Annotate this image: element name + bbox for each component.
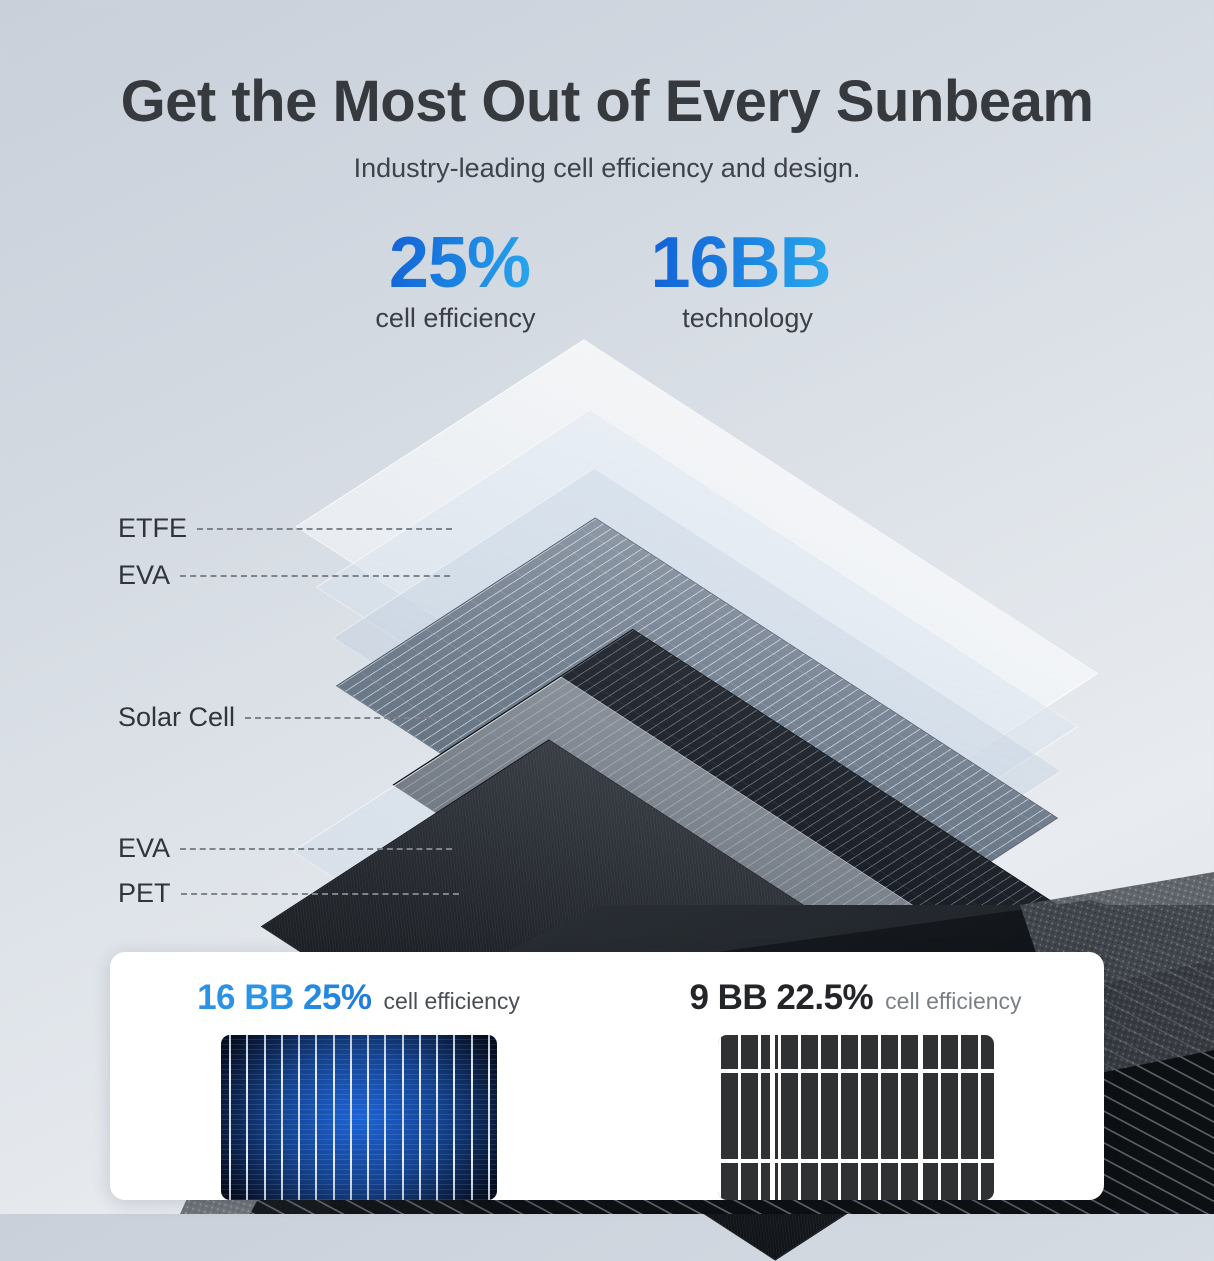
cell-seam — [770, 1035, 775, 1200]
cell-busbar — [315, 1035, 317, 1200]
cell-comparison-card: 16 BB 25% cell efficiency 9 BB 22.5% cel… — [110, 952, 1104, 1200]
cell-busbar — [436, 1035, 438, 1200]
cell-busbar — [453, 1035, 455, 1200]
cell-busbar-horizontal — [718, 1159, 994, 1163]
leader-line — [180, 575, 450, 577]
leader-line — [197, 528, 452, 530]
cell-busbar — [471, 1035, 473, 1200]
cell-busbar — [419, 1035, 421, 1200]
layer-label-text: EVA — [118, 833, 170, 864]
cell-busbar — [229, 1035, 231, 1200]
layer-label-eva-top: EVA — [118, 560, 450, 591]
comparison-heading: 16 BB 25% cell efficiency — [197, 978, 520, 1018]
leader-line — [181, 893, 459, 895]
cell-busbar — [264, 1035, 266, 1200]
cell-busbar — [367, 1035, 369, 1200]
leader-line — [245, 717, 430, 719]
cell-busbar — [402, 1035, 404, 1200]
comparison-headline: 16 BB 25% — [197, 978, 371, 1018]
cell-grid-texture — [718, 1035, 994, 1200]
layer-label-text: ETFE — [118, 513, 187, 544]
solar-cell-swatch-9bb — [718, 1035, 994, 1200]
cell-seam — [918, 1035, 923, 1200]
cell-busbar — [384, 1035, 386, 1200]
cell-busbar — [281, 1035, 283, 1200]
cell-busbar — [246, 1035, 248, 1200]
comparison-item-9bb: 9 BB 22.5% cell efficiency — [607, 952, 1104, 1200]
cell-busbar — [298, 1035, 300, 1200]
cell-busbar — [488, 1035, 490, 1200]
layer-label-etfe: ETFE — [118, 513, 452, 544]
leader-line — [180, 848, 452, 850]
layer-label-eva-bottom: EVA — [118, 833, 452, 864]
layer-label-text: Solar Cell — [118, 702, 235, 733]
comparison-caption: cell efficiency — [885, 988, 1021, 1015]
comparison-headline: 9 BB 22.5% — [689, 978, 873, 1018]
layer-label-text: EVA — [118, 560, 170, 591]
layer-label-text: PET — [118, 878, 171, 909]
layer-label-pet: PET — [118, 878, 459, 909]
cell-busbar — [333, 1035, 335, 1200]
comparison-heading: 9 BB 22.5% cell efficiency — [689, 978, 1021, 1018]
comparison-item-16bb: 16 BB 25% cell efficiency — [110, 952, 607, 1200]
cell-busbar-horizontal — [718, 1069, 994, 1073]
layer-label-solar-cell: Solar Cell — [118, 702, 430, 733]
comparison-caption: cell efficiency — [384, 988, 520, 1015]
cell-busbar — [350, 1035, 352, 1200]
solar-cell-swatch-16bb — [221, 1035, 497, 1200]
